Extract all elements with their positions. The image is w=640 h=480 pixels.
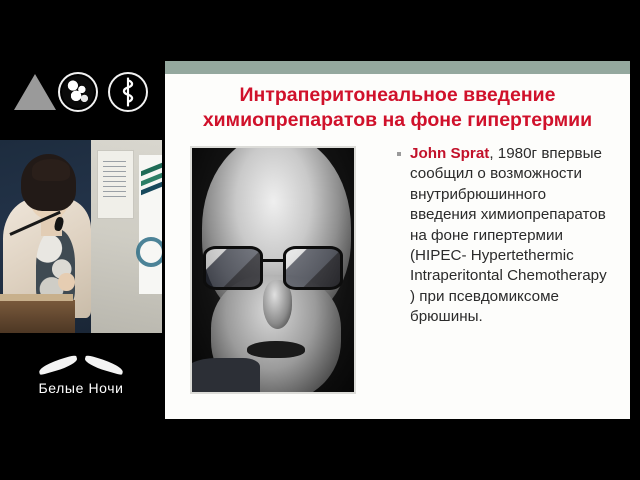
slide-bullet-list: John Sprat, 1980г впервые сообщил о возм… [397, 144, 613, 328]
presentation-slide: Интраперитонеальное введение химиопрепар… [165, 61, 630, 419]
square-bullet-icon [397, 152, 401, 156]
podium [0, 300, 75, 333]
slide-bullet-item: John Sprat, 1980г впервые сообщил о возм… [397, 144, 613, 328]
globe-icon [58, 72, 98, 112]
event-logo: Белые Ночи [0, 333, 162, 419]
eyeglasses-icon [198, 246, 347, 290]
video-frame: Белые Ночи Интраперитонеальное введение … [0, 0, 640, 480]
triangle-icon [14, 74, 56, 110]
slide-title: Интраперитонеальное введение химиопрепар… [175, 83, 620, 133]
caduceus-icon [108, 72, 148, 112]
person-name-highlight: John Sprat [410, 145, 489, 162]
wings-icon [38, 356, 124, 378]
slide-header-band [165, 61, 630, 74]
slide-bullet-text: , 1980г впервые сообщил о возможности вн… [410, 145, 607, 325]
john-sprat-portrait [190, 146, 356, 394]
speaker-camera-feed [0, 140, 162, 333]
slide-title-line-2: химиопрепаратов на фоне гипертермии [175, 108, 620, 133]
event-logo-label: Белые Ночи [38, 380, 123, 396]
organizer-logo-bar [0, 62, 165, 124]
slide-title-line-1: Интраперитонеальное введение [175, 83, 620, 108]
whiteboard [97, 150, 134, 219]
